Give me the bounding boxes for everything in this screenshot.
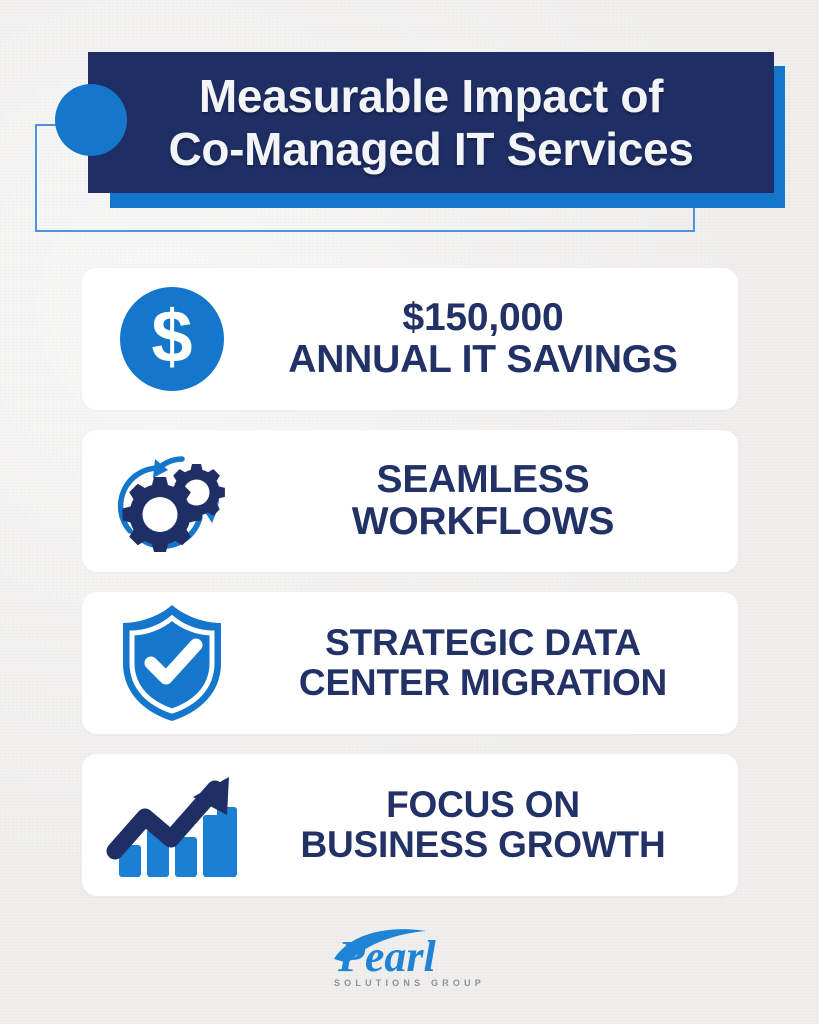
pearl-logo-mark: Pearl: [320, 925, 500, 981]
shield-check-icon: [113, 601, 231, 725]
card-line1: FOCUS ON: [386, 785, 580, 825]
card-line1: STRATEGIC DATA: [325, 623, 641, 663]
benefit-card-migration[interactable]: STRATEGIC DATA CENTER MIGRATION: [82, 592, 738, 734]
page-title-line1: Measurable Impact of: [199, 70, 663, 122]
growth-chart-arrow-icon: [105, 767, 239, 883]
pearl-logo-text: Pearl: [337, 932, 437, 981]
gear-large: [123, 477, 198, 552]
card-line1: SEAMLESS: [377, 459, 590, 501]
card-text-savings: $150,000 ANNUAL IT SAVINGS: [262, 297, 738, 380]
benefit-card-growth[interactable]: FOCUS ON BUSINESS GROWTH: [82, 754, 738, 896]
card-text-workflows: SEAMLESS WORKFLOWS: [262, 459, 738, 542]
card-icon-wrap: [82, 592, 262, 734]
page-title: Measurable Impact of Co-Managed IT Servi…: [88, 52, 774, 193]
page-title-line2: Co-Managed IT Services: [168, 123, 693, 175]
dollar-circle-icon: $: [120, 287, 224, 391]
card-icon-wrap: [82, 754, 262, 896]
benefit-card-savings[interactable]: $ $150,000 ANNUAL IT SAVINGS: [82, 268, 738, 410]
benefit-card-list: $ $150,000 ANNUAL IT SAVINGS: [82, 268, 738, 916]
card-line2: ANNUAL IT SAVINGS: [288, 339, 678, 381]
card-line1: $150,000: [402, 297, 563, 339]
gears-sync-icon: [108, 445, 236, 557]
header: Measurable Impact of Co-Managed IT Servi…: [0, 0, 819, 250]
pearl-logo: Pearl: [320, 925, 500, 981]
card-text-growth: FOCUS ON BUSINESS GROWTH: [262, 785, 738, 864]
card-line2: CENTER MIGRATION: [299, 663, 667, 703]
card-line2: WORKFLOWS: [352, 501, 614, 543]
footer: Pearl SOLUTIONS GROUP: [0, 925, 819, 988]
dollar-glyph: $: [151, 300, 192, 374]
card-icon-wrap: [82, 430, 262, 572]
card-text-migration: STRATEGIC DATA CENTER MIGRATION: [262, 623, 738, 702]
benefit-card-workflows[interactable]: SEAMLESS WORKFLOWS: [82, 430, 738, 572]
card-icon-wrap: $: [82, 268, 262, 410]
card-line2: BUSINESS GROWTH: [301, 825, 666, 865]
